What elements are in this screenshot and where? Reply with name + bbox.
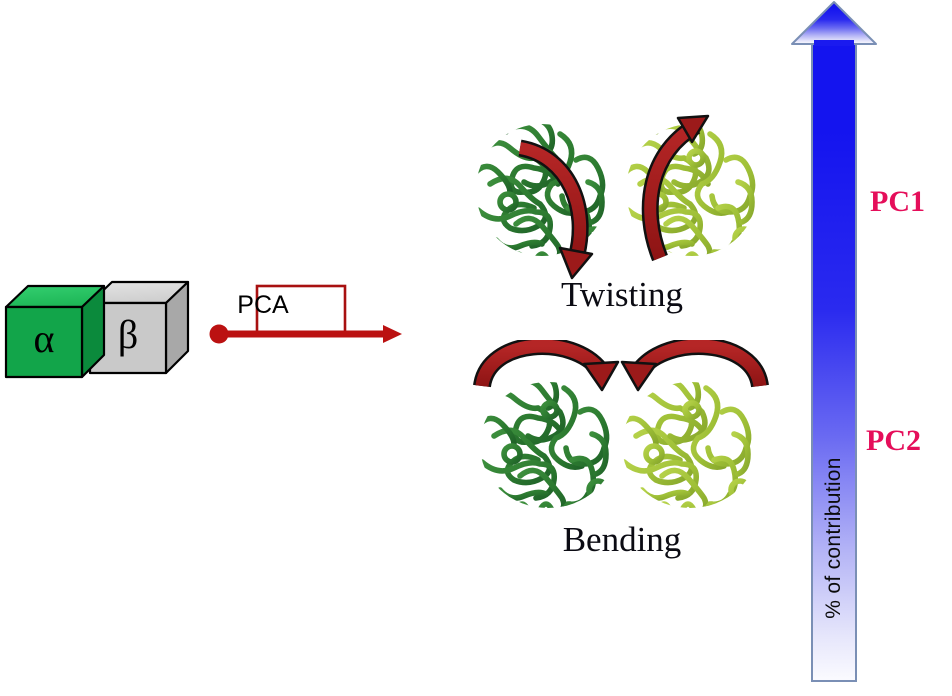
pc2-label: PC2 xyxy=(866,424,921,458)
bending-structure-svg xyxy=(472,340,772,520)
pca-arrow-head xyxy=(383,325,402,343)
contribution-arrow-shaft xyxy=(812,40,856,681)
cube-beta-symbol: β xyxy=(118,312,138,357)
figure-canvas: β α PCA xyxy=(0,0,952,691)
contribution-arrow-seam xyxy=(814,40,854,46)
twisting-caption: Twisting xyxy=(472,277,772,312)
subunit-cubes: β α xyxy=(0,268,200,393)
contribution-arrow-svg xyxy=(786,0,886,691)
bending-arrowhead-right xyxy=(622,362,656,390)
contribution-axis-arrow xyxy=(786,0,886,691)
bending-caption: Bending xyxy=(472,522,772,557)
bending-arrowhead-left xyxy=(584,362,618,390)
bending-rotation-arrows xyxy=(482,346,760,390)
pca-label: PCA xyxy=(219,281,307,330)
pc1-label: PC1 xyxy=(870,185,925,219)
twisting-structure-svg xyxy=(472,112,772,282)
twisting-motion-panel: Twisting xyxy=(472,112,772,322)
bending-motion-panel: Bending xyxy=(472,340,772,570)
twisting-arrowhead-left xyxy=(560,248,592,278)
bending-chain-alpha xyxy=(478,372,607,516)
bending-chain-beta xyxy=(620,372,749,516)
cube-alpha-symbol: α xyxy=(34,316,55,361)
contribution-arrow-head xyxy=(792,2,876,44)
cube-alpha: α xyxy=(6,286,104,377)
pca-transform-arrow: PCA xyxy=(205,278,410,348)
cubes-svg: β α xyxy=(0,268,200,393)
